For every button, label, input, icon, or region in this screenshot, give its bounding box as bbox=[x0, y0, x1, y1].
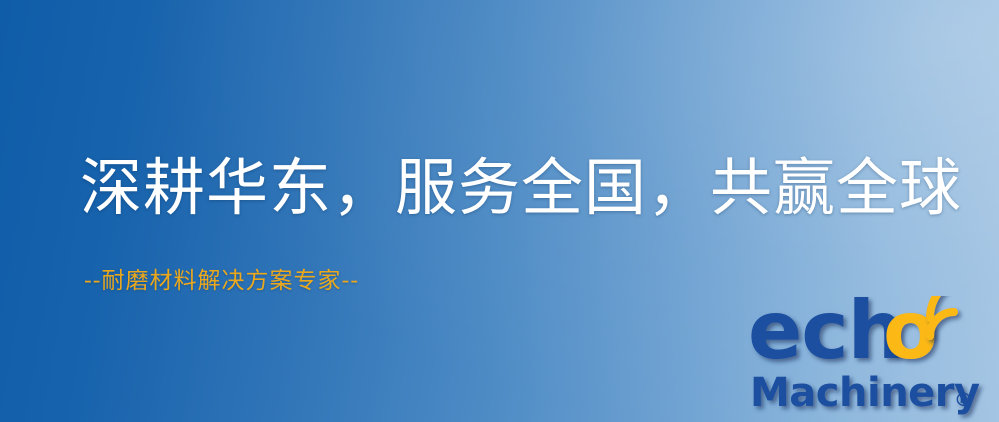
svg-text:Machinery: Machinery bbox=[750, 370, 980, 416]
echo-machinery-logo: ech o Machinery ® bbox=[748, 296, 994, 422]
banner-subtitle: --耐磨材料解决方案专家-- bbox=[84, 266, 359, 296]
hero-banner: 深耕华东，服务全国，共赢全球 --耐磨材料解决方案专家-- ech o bbox=[0, 0, 999, 422]
svg-text:ech: ech bbox=[748, 296, 904, 377]
logo-wordmark-ech: ech bbox=[748, 296, 904, 377]
banner-headline: 深耕华东，服务全国，共赢全球 bbox=[80, 152, 962, 224]
logo-tagline: Machinery ® bbox=[750, 370, 980, 416]
svg-text:®: ® bbox=[954, 389, 973, 411]
